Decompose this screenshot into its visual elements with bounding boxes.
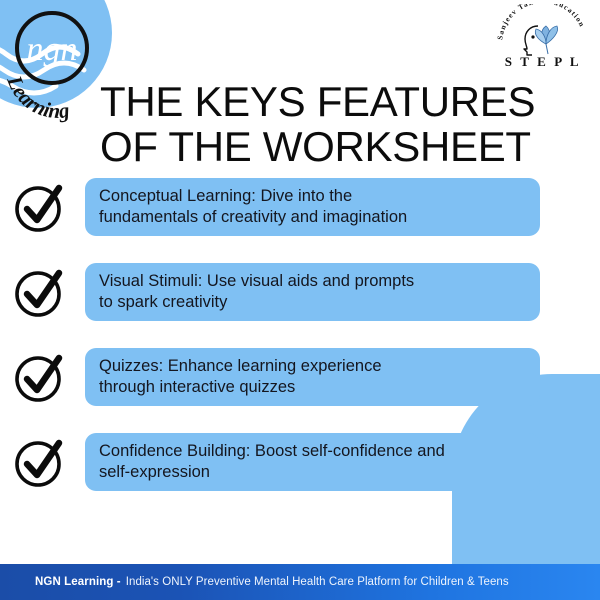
feature-box: Confidence Building: Boost self-confiden… (85, 433, 540, 491)
feature-item: Conceptual Learning: Dive into the funda… (0, 178, 600, 236)
stepl-wordmark: S T E P L (505, 54, 581, 69)
footer-brand: NGN Learning - (35, 576, 121, 588)
feature-box: Visual Stimuli: Use visual aids and prom… (85, 263, 540, 321)
feature-text: Visual Stimuli: Use visual aids and prom… (99, 271, 414, 313)
feature-item: Quizzes: Enhance learning experience thr… (0, 348, 600, 406)
feature-box: Conceptual Learning: Dive into the funda… (85, 178, 540, 236)
feature-item: Confidence Building: Boost self-confiden… (0, 433, 600, 491)
stepl-logo: Sanjeev Tanna Education S T E P L (494, 4, 592, 70)
ngn-learning-logo: ngn Learning (0, 0, 115, 135)
check-circle-icon (12, 264, 68, 320)
feature-item: Visual Stimuli: Use visual aids and prom… (0, 263, 600, 321)
ngn-script-text: ngn (27, 31, 78, 68)
feature-text: Quizzes: Enhance learning experience thr… (99, 356, 382, 398)
feature-text: Confidence Building: Boost self-confiden… (99, 441, 445, 483)
features-list: Conceptual Learning: Dive into the funda… (0, 178, 600, 518)
footer-tagline: India's ONLY Preventive Mental Health Ca… (126, 576, 509, 588)
footer-bar: NGN Learning - India's ONLY Preventive M… (0, 564, 600, 600)
poster-canvas: ngn Learning Sanjeev Tanna Education S T… (0, 0, 600, 600)
check-circle-icon (12, 349, 68, 405)
check-circle-icon (12, 179, 68, 235)
page-title-line-1: THE KEYS FEATURES (100, 80, 540, 125)
page-title-line-2: OF THE WORKSHEET (100, 125, 540, 170)
check-circle-icon (12, 434, 68, 490)
page-title: THE KEYS FEATURES OF THE WORKSHEET (100, 80, 540, 170)
feature-box: Quizzes: Enhance learning experience thr… (85, 348, 540, 406)
feature-text: Conceptual Learning: Dive into the funda… (99, 186, 407, 228)
